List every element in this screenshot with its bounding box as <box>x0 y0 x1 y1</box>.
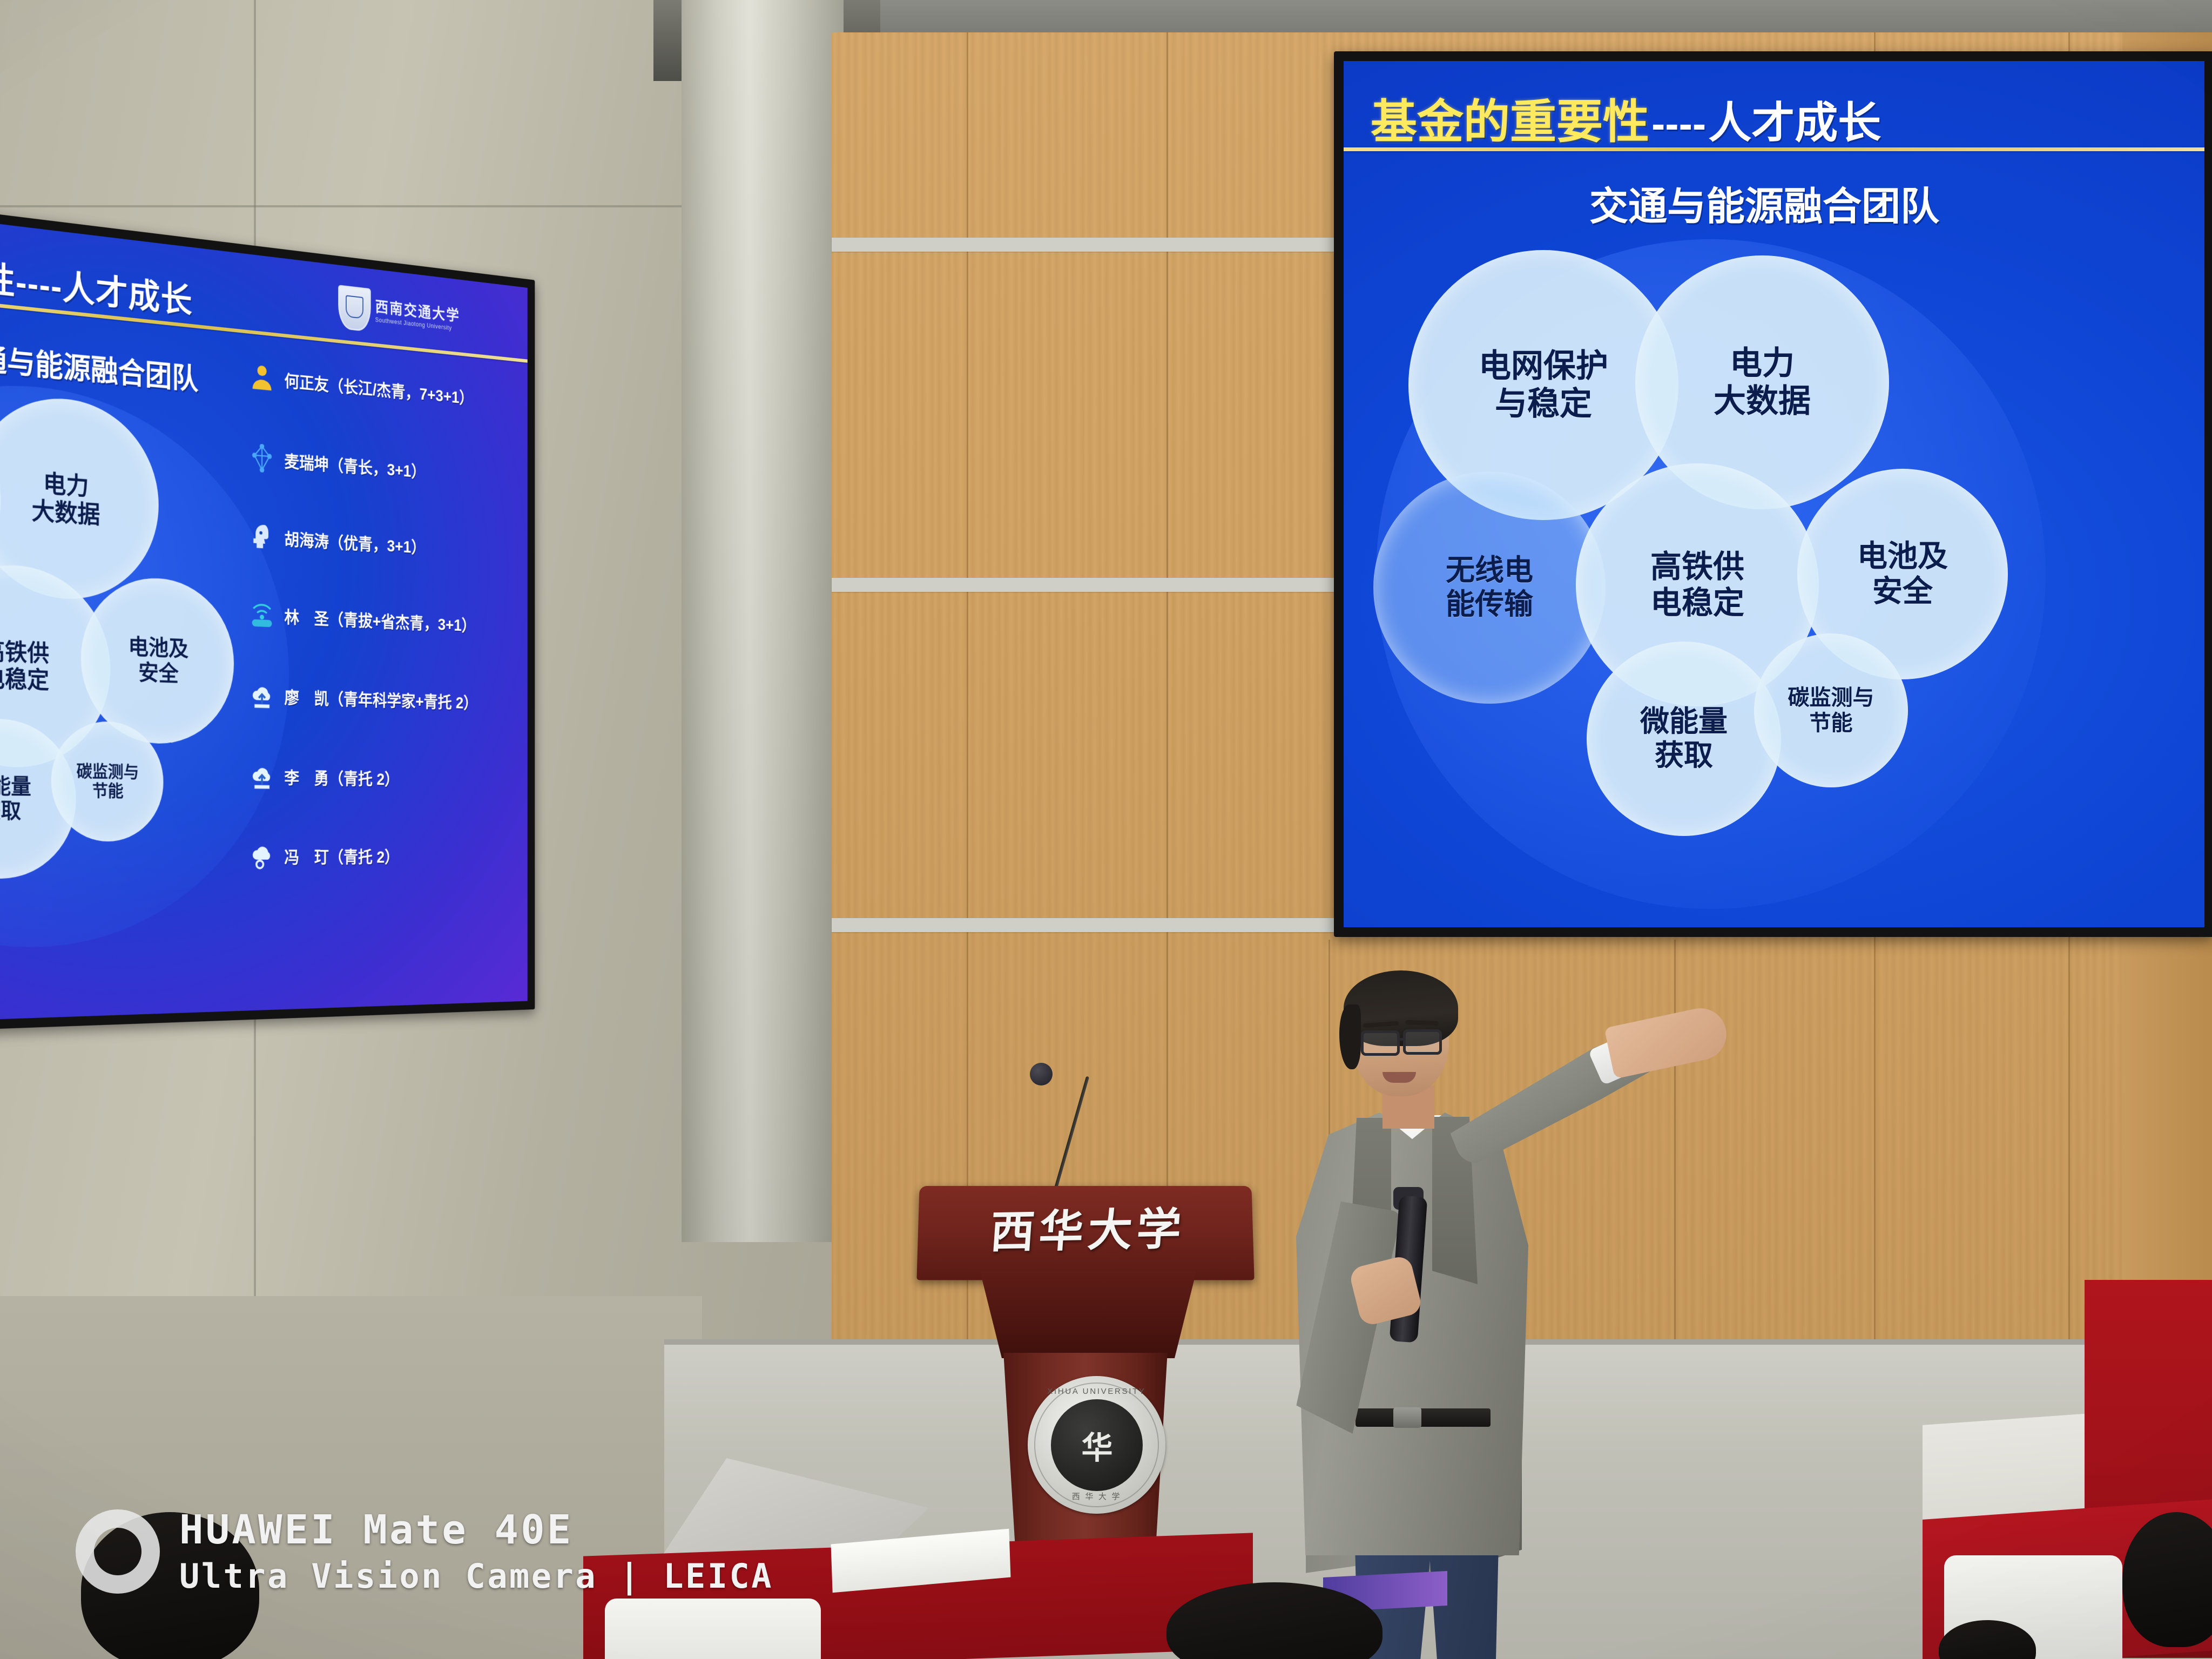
wood-seam <box>967 32 968 1366</box>
camera-watermark: HUAWEI Mate 40E Ultra Vision Camera | LE… <box>76 1507 773 1596</box>
emblem-text-top: XIHUA UNIVERSITY <box>1028 1387 1165 1396</box>
wall-trim <box>832 238 1334 252</box>
cloud-upload-icon <box>248 760 276 792</box>
person-gold-icon <box>248 360 276 394</box>
southwest-jiaotong-logo: 西南交通大学 Southwest Jiaotong University <box>338 285 460 341</box>
wall-seam <box>0 205 686 207</box>
podium-emblem: XIHUA UNIVERSITY 华 西 华 大 学 <box>1028 1376 1165 1514</box>
person-name: 廖 凯（青年科学家+青托 2） <box>284 684 477 714</box>
slide-right: 基金的重要性 ---- 人才成长 交通与能源融合团队 电网保护与稳定 电力大数据… <box>1344 61 2204 927</box>
bubble-micro-energy: 微能量获取 <box>1587 642 1781 836</box>
right-slide-title-row: 基金的重要性 ---- 人才成长 <box>1371 84 1881 151</box>
screen-left-content: 的重要性----人才成长 交通与能源融合团队 西南交通大学 Southwest … <box>0 216 528 1021</box>
bubble-wireless-power: 无线电能传输 <box>1373 471 1606 704</box>
screen-right-content: 基金的重要性 ---- 人才成长 交通与能源融合团队 电网保护与稳定 电力大数据… <box>1344 61 2204 927</box>
photo-scene: 的重要性----人才成长 交通与能源融合团队 西南交通大学 Southwest … <box>0 0 2212 1659</box>
watermark-line-1: HUAWEI Mate 40E <box>179 1507 773 1553</box>
speaker-belt <box>1355 1408 1491 1427</box>
emblem-ring <box>1034 1382 1159 1507</box>
title-divider <box>1344 147 2204 151</box>
wifi-router-icon <box>248 598 276 631</box>
speaker-glasses-right-lens <box>1403 1029 1442 1055</box>
wall-trim <box>832 918 1334 932</box>
person-name: 胡海涛（优青，3+1） <box>284 526 425 558</box>
speaker-glasses-bridge <box>1399 1038 1405 1041</box>
microphone-head <box>1030 1063 1053 1085</box>
person-name: 何正友（长江/杰青，7+3+1） <box>284 367 473 409</box>
head-profile-icon <box>248 520 276 553</box>
person-row: 廖 凯（青年科学家+青托 2） <box>248 679 477 717</box>
person-row: 麦瑞坤（青长，3+1） <box>248 441 426 486</box>
right-slide-subtitle: 交通与能源融合团队 <box>1589 174 1939 231</box>
person-row: 胡海涛（优青，3+1） <box>248 520 426 562</box>
person-row: 李 勇（青托 2） <box>248 760 399 793</box>
wall-trim <box>832 578 1334 592</box>
projection-screen-left: 的重要性----人才成长 交通与能源融合团队 西南交通大学 Southwest … <box>0 205 535 1031</box>
foreground-white-chair <box>605 1599 821 1659</box>
person-name: 麦瑞坤（青长，3+1） <box>284 448 425 483</box>
person-name: 冯 玎（青托 2） <box>284 844 399 868</box>
person-row: 何正友（长江/杰青，7+3+1） <box>248 360 473 413</box>
watermark-line-2: Ultra Vision Camera | LEICA <box>179 1556 773 1596</box>
slide-left: 的重要性----人才成长 交通与能源融合团队 西南交通大学 Southwest … <box>0 216 528 1021</box>
column-shading <box>682 0 844 1242</box>
podium-university-label: 西华大学 <box>967 1192 1210 1261</box>
bubble-carbon-monitor: 碳监测与节能 <box>1754 633 1908 787</box>
shield-icon <box>338 285 370 332</box>
right-slide-title-suffix: 人才成长 <box>1708 88 1881 151</box>
speaker-glasses-left-lens <box>1361 1030 1400 1056</box>
wood-seam <box>1166 32 1168 1366</box>
projection-screen-right: 基金的重要性 ---- 人才成长 交通与能源融合团队 电网保护与稳定 电力大数据… <box>1334 51 2212 937</box>
emblem-text-bottom: 西 华 大 学 <box>1028 1491 1165 1502</box>
wood-seam <box>1674 940 1676 1366</box>
title-dashes: ---- <box>1651 100 1706 147</box>
cloud-upload-icon <box>248 679 276 712</box>
person-name: 李 勇（青托 2） <box>284 765 399 790</box>
cloud-link-icon <box>248 840 276 872</box>
speaker-sideburn <box>1339 1004 1361 1069</box>
person-row: 冯 玎（青托 2） <box>248 840 399 872</box>
right-slide-title-main: 基金的重要性 <box>1371 84 1649 151</box>
podium-body <box>980 1272 1196 1358</box>
speaker-belt-buckle <box>1393 1407 1421 1428</box>
camera-aperture-icon <box>76 1509 160 1594</box>
network-node-icon <box>248 441 276 475</box>
person-name: 林 圣（青拔+省杰青，3+1） <box>284 604 475 636</box>
